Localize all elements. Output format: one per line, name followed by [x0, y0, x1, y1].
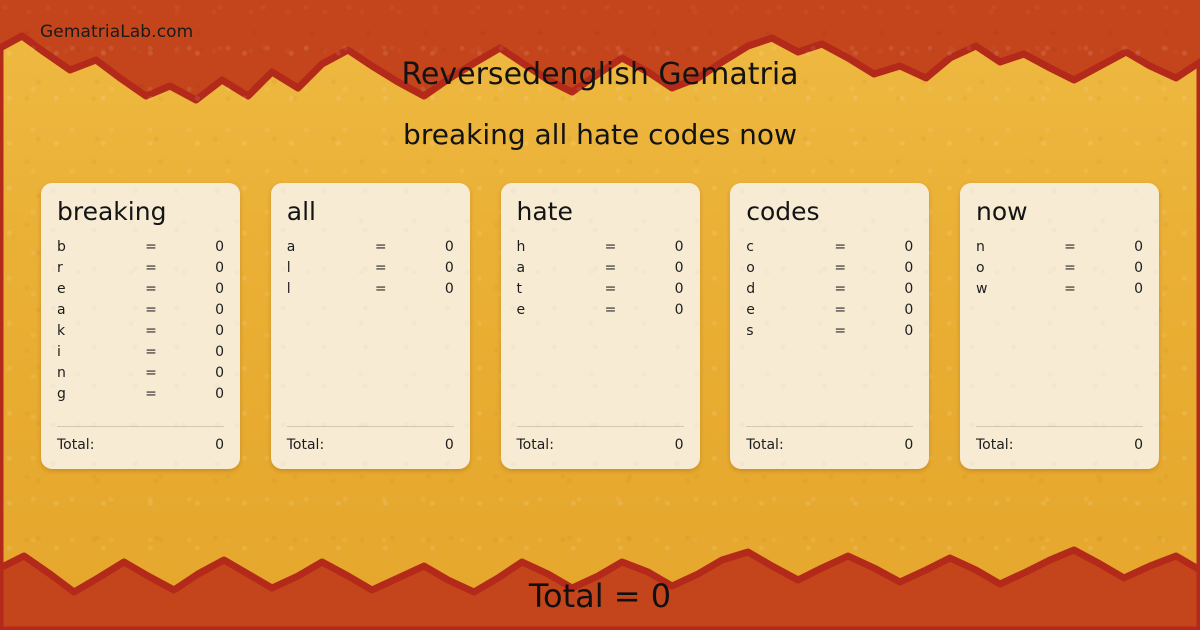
- card-divider: [976, 426, 1143, 427]
- equals-sign: =: [129, 239, 173, 255]
- letter-row: g=0: [57, 386, 224, 407]
- letter-glyph: l: [287, 281, 359, 297]
- word-card: hateh=0a=0t=0e=0Total:0: [501, 183, 700, 469]
- letter-glyph: s: [746, 323, 818, 339]
- letter-glyph: t: [517, 281, 589, 297]
- word-card: breakingb=0r=0e=0a=0k=0i=0n=0g=0Total:0: [41, 183, 240, 469]
- letter-value: 0: [633, 302, 684, 318]
- letter-glyph: l: [287, 260, 359, 276]
- card-word-title: codes: [746, 197, 913, 227]
- letter-value: 0: [862, 302, 913, 318]
- card-total-row: Total:0: [976, 437, 1143, 469]
- letter-glyph: c: [746, 239, 818, 255]
- letter-value: 0: [862, 239, 913, 255]
- card-total-label: Total:: [517, 437, 554, 453]
- letter-row: d=0: [746, 281, 913, 302]
- letter-rows: b=0r=0e=0a=0k=0i=0n=0g=0: [57, 239, 224, 426]
- letter-value: 0: [862, 281, 913, 297]
- letter-row: l=0: [287, 281, 454, 302]
- equals-sign: =: [129, 365, 173, 381]
- letter-value: 0: [403, 239, 454, 255]
- equals-sign: =: [589, 281, 633, 297]
- card-total-label: Total:: [746, 437, 783, 453]
- letter-row: l=0: [287, 260, 454, 281]
- page-subtitle: breaking all hate codes now: [0, 118, 1200, 152]
- card-total-label: Total:: [287, 437, 324, 453]
- equals-sign: =: [589, 239, 633, 255]
- letter-row: e=0: [746, 302, 913, 323]
- card-divider: [746, 426, 913, 427]
- letter-value: 0: [1092, 239, 1143, 255]
- letter-row: a=0: [517, 260, 684, 281]
- letter-glyph: g: [57, 386, 129, 402]
- word-card: codesc=0o=0d=0e=0s=0Total:0: [730, 183, 929, 469]
- equals-sign: =: [1048, 281, 1092, 297]
- card-word-title: all: [287, 197, 454, 227]
- equals-sign: =: [359, 281, 403, 297]
- equals-sign: =: [818, 323, 862, 339]
- letter-glyph: e: [746, 302, 818, 318]
- card-total-row: Total:0: [746, 437, 913, 469]
- header-block: Reversedenglish Gematria breaking all ha…: [0, 56, 1200, 152]
- site-logo[interactable]: GematriaLab.com: [40, 22, 193, 42]
- card-word-title: hate: [517, 197, 684, 227]
- letter-value: 0: [173, 344, 224, 360]
- card-word-title: breaking: [57, 197, 224, 227]
- card-total-value: 0: [324, 437, 454, 453]
- equals-sign: =: [129, 302, 173, 318]
- card-total-row: Total:0: [57, 437, 224, 469]
- letter-value: 0: [403, 260, 454, 276]
- letter-glyph: a: [57, 302, 129, 318]
- equals-sign: =: [1048, 239, 1092, 255]
- letter-glyph: h: [517, 239, 589, 255]
- equals-sign: =: [818, 260, 862, 276]
- letter-value: 0: [862, 323, 913, 339]
- letter-row: e=0: [57, 281, 224, 302]
- card-divider: [287, 426, 454, 427]
- letter-row: r=0: [57, 260, 224, 281]
- letter-row: k=0: [57, 323, 224, 344]
- equals-sign: =: [589, 302, 633, 318]
- letter-glyph: o: [746, 260, 818, 276]
- card-total-label: Total:: [57, 437, 94, 453]
- equals-sign: =: [1048, 260, 1092, 276]
- card-divider: [517, 426, 684, 427]
- equals-sign: =: [818, 302, 862, 318]
- letter-value: 0: [403, 281, 454, 297]
- letter-row: s=0: [746, 323, 913, 344]
- letter-value: 0: [1092, 260, 1143, 276]
- letter-glyph: b: [57, 239, 129, 255]
- letter-row: n=0: [57, 365, 224, 386]
- card-total-label: Total:: [976, 437, 1013, 453]
- card-total-row: Total:0: [287, 437, 454, 469]
- letter-value: 0: [633, 239, 684, 255]
- letter-row: e=0: [517, 302, 684, 323]
- letter-value: 0: [173, 260, 224, 276]
- letter-glyph: i: [57, 344, 129, 360]
- letter-value: 0: [633, 281, 684, 297]
- letter-row: o=0: [976, 260, 1143, 281]
- letter-row: h=0: [517, 239, 684, 260]
- grand-total: Total = 0: [0, 576, 1200, 616]
- card-total-value: 0: [1013, 437, 1143, 453]
- word-card: nown=0o=0w=0Total:0: [960, 183, 1159, 469]
- letter-value: 0: [633, 260, 684, 276]
- letter-row: b=0: [57, 239, 224, 260]
- letter-rows: a=0l=0l=0: [287, 239, 454, 426]
- card-word-title: now: [976, 197, 1143, 227]
- letter-value: 0: [173, 281, 224, 297]
- letter-row: a=0: [287, 239, 454, 260]
- letter-value: 0: [862, 260, 913, 276]
- letter-row: c=0: [746, 239, 913, 260]
- letter-glyph: e: [517, 302, 589, 318]
- letter-glyph: r: [57, 260, 129, 276]
- letter-glyph: a: [287, 239, 359, 255]
- letter-glyph: o: [976, 260, 1048, 276]
- equals-sign: =: [359, 239, 403, 255]
- card-total-value: 0: [554, 437, 684, 453]
- page-title: Reversedenglish Gematria: [0, 56, 1200, 94]
- poster-canvas: GematriaLab.com Reversedenglish Gematria…: [0, 0, 1200, 630]
- equals-sign: =: [818, 281, 862, 297]
- letter-glyph: d: [746, 281, 818, 297]
- letter-glyph: k: [57, 323, 129, 339]
- letter-glyph: a: [517, 260, 589, 276]
- letter-value: 0: [173, 239, 224, 255]
- card-total-value: 0: [784, 437, 914, 453]
- letter-glyph: n: [57, 365, 129, 381]
- letter-glyph: n: [976, 239, 1048, 255]
- word-card: alla=0l=0l=0Total:0: [271, 183, 470, 469]
- equals-sign: =: [818, 239, 862, 255]
- equals-sign: =: [129, 386, 173, 402]
- equals-sign: =: [129, 344, 173, 360]
- equals-sign: =: [129, 323, 173, 339]
- equals-sign: =: [129, 260, 173, 276]
- letter-row: o=0: [746, 260, 913, 281]
- letter-value: 0: [173, 386, 224, 402]
- letter-rows: n=0o=0w=0: [976, 239, 1143, 426]
- card-total-row: Total:0: [517, 437, 684, 469]
- letter-row: t=0: [517, 281, 684, 302]
- card-divider: [57, 426, 224, 427]
- equals-sign: =: [589, 260, 633, 276]
- letter-rows: c=0o=0d=0e=0s=0: [746, 239, 913, 426]
- letter-value: 0: [173, 323, 224, 339]
- letter-value: 0: [173, 365, 224, 381]
- letter-rows: h=0a=0t=0e=0: [517, 239, 684, 426]
- letter-row: a=0: [57, 302, 224, 323]
- word-cards-row: breakingb=0r=0e=0a=0k=0i=0n=0g=0Total:0a…: [41, 183, 1159, 469]
- letter-row: n=0: [976, 239, 1143, 260]
- letter-glyph: w: [976, 281, 1048, 297]
- letter-row: i=0: [57, 344, 224, 365]
- letter-row: w=0: [976, 281, 1143, 302]
- equals-sign: =: [129, 281, 173, 297]
- letter-value: 0: [173, 302, 224, 318]
- letter-glyph: e: [57, 281, 129, 297]
- card-total-value: 0: [94, 437, 224, 453]
- equals-sign: =: [359, 260, 403, 276]
- letter-value: 0: [1092, 281, 1143, 297]
